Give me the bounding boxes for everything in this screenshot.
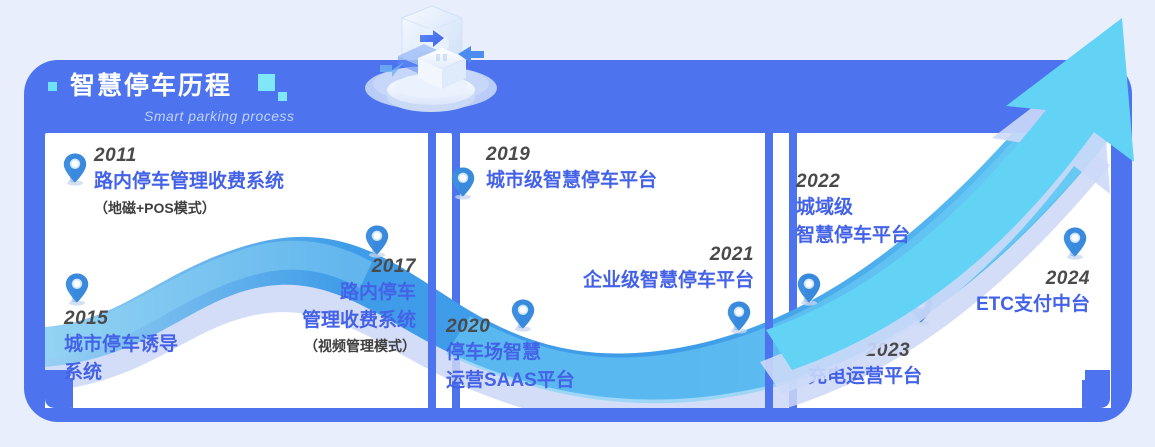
page-title: 智慧停车历程 <box>70 74 232 99</box>
milestone-name-line1: 城市停车诱导 <box>64 333 178 358</box>
map-pin-icon <box>62 152 88 186</box>
milestone-2021: 2021 企业级智慧停车平台 <box>538 244 754 294</box>
page-subtitle: Smart parking process <box>144 108 295 124</box>
milestone-2015: 2015 城市停车诱导 系统 <box>64 308 178 385</box>
milestone-name: 路内停车管理收费系统 <box>94 170 284 195</box>
milestone-name-line2: 管理收费系统 <box>192 309 416 334</box>
square-bullet-icon <box>48 82 57 91</box>
map-pin-icon <box>64 272 90 306</box>
map-pin-icon <box>510 298 536 332</box>
milestone-year: 2017 <box>192 256 416 278</box>
cloud-cube-platform-illustration <box>358 0 504 126</box>
milestone-year: 2019 <box>486 144 657 166</box>
milestone-name-line2: 运营SAAS平台 <box>446 369 575 394</box>
milestone-name: ETC支付中台 <box>910 293 1090 318</box>
map-pin-icon <box>1062 226 1088 260</box>
map-pin-icon <box>908 292 934 326</box>
infographic-stage: 智慧停车历程 Smart parking process <box>0 0 1155 447</box>
cyan-square-small-icon <box>278 92 287 101</box>
milestone-2022: 2022 城域级 智慧停车平台 <box>796 171 910 248</box>
milestone-name-line1: 城域级 <box>796 196 910 221</box>
milestone-2024: 2024 ETC支付中台 <box>910 268 1090 318</box>
milestone-year: 2022 <box>796 171 910 193</box>
milestone-name-line2: 智慧停车平台 <box>796 224 910 249</box>
map-pin-icon <box>726 300 752 334</box>
milestone-name: 充电运营平台 <box>808 365 968 390</box>
milestone-year: 2024 <box>910 268 1090 290</box>
milestone-name-line2: 系统 <box>64 361 178 386</box>
milestone-sub: （地磁+POS模式） <box>94 199 284 217</box>
milestone-year: 2021 <box>538 244 754 266</box>
milestone-2017: 2017 路内停车 管理收费系统 （视频管理模式） <box>192 256 416 355</box>
map-pin-icon <box>796 272 822 306</box>
milestone-year: 2011 <box>94 145 284 167</box>
milestone-name: 城市级智慧停车平台 <box>486 169 657 194</box>
milestone-name-line1: 路内停车 <box>192 281 416 306</box>
map-pin-icon <box>364 224 390 258</box>
map-pin-icon <box>450 166 476 200</box>
milestone-sub: （视频管理模式） <box>192 337 416 355</box>
milestone-year: 2023 <box>808 340 968 362</box>
milestone-2023: 2023 充电运营平台 <box>808 340 968 390</box>
milestone-name: 企业级智慧停车平台 <box>538 269 754 294</box>
milestone-2019: 2019 城市级智慧停车平台 <box>486 144 657 194</box>
milestone-year: 2015 <box>64 308 178 330</box>
milestone-name-line1: 停车场智慧 <box>446 341 575 366</box>
cyan-square-icon <box>258 74 275 91</box>
milestone-2011: 2011 路内停车管理收费系统 （地磁+POS模式） <box>94 145 284 217</box>
